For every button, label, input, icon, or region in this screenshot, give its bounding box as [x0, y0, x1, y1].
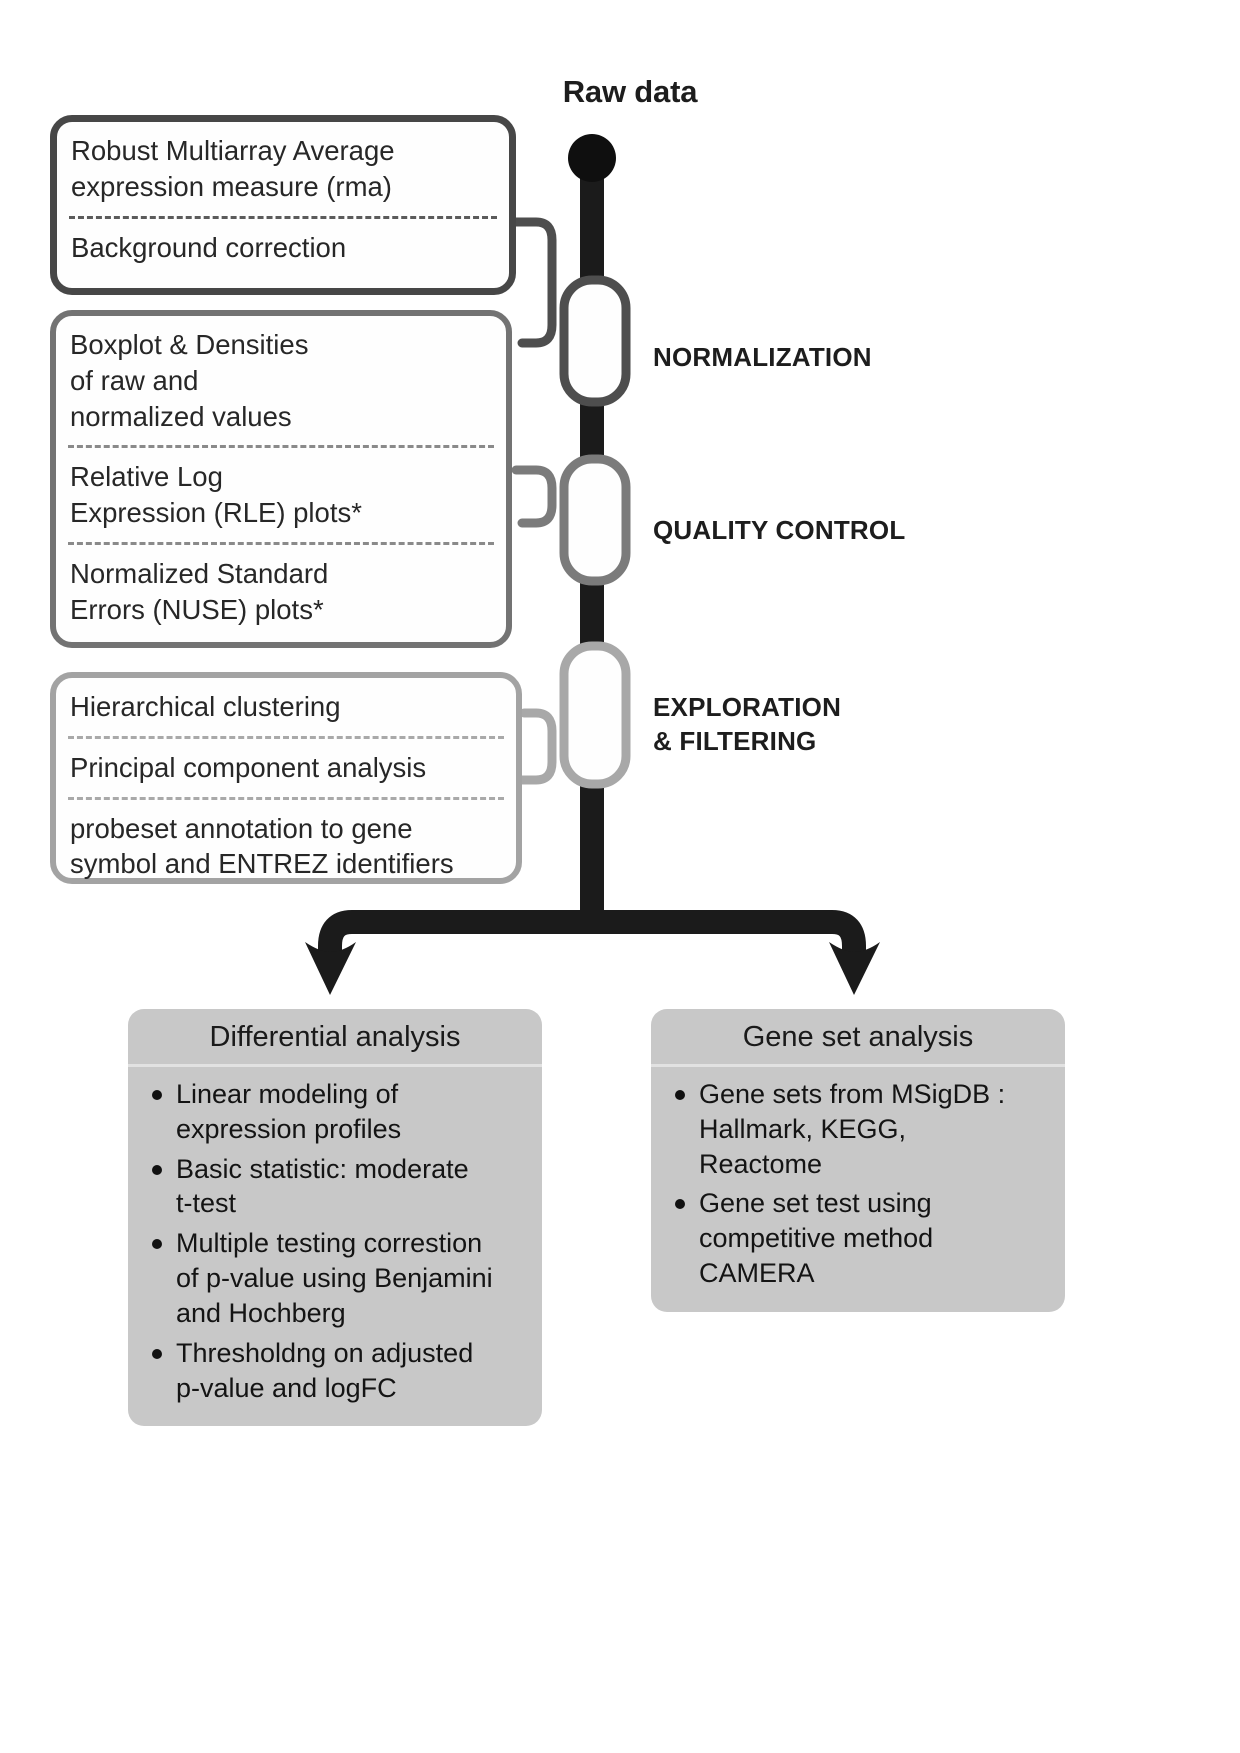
bullet-icon	[152, 1090, 162, 1100]
list-item-label: Basic statistic: moderatet-test	[176, 1154, 469, 1219]
panel-item: Principal component analysis	[56, 750, 516, 786]
bullet-icon	[152, 1165, 162, 1175]
page-title: Raw data	[500, 74, 760, 110]
branch-arrows	[305, 905, 880, 995]
bullet-icon	[675, 1199, 685, 1209]
list-item: Gene set test usingcompetitive methodCAM…	[669, 1186, 1051, 1290]
panel-item: Relative LogExpression (RLE) plots*	[56, 459, 506, 531]
bullet-list: Linear modeling ofexpression profiles Ba…	[128, 1067, 542, 1426]
bullet-icon	[675, 1090, 685, 1100]
stage-label-exploration-filtering: EXPLORATION& FILTERING	[653, 690, 841, 759]
card-title: Differential analysis	[128, 1009, 542, 1067]
stage-pill-normalization	[516, 222, 626, 402]
card-title: Gene set analysis	[651, 1009, 1065, 1067]
panel-item: Boxplot & Densitiesof raw andnormalized …	[56, 327, 506, 434]
stage-pill-quality-control	[516, 459, 626, 581]
list-item-label: Thresholdng on adjustedp-value and logFC	[176, 1338, 473, 1403]
list-item-label: Multiple testing correstionof p-value us…	[176, 1228, 493, 1328]
panel-exploration-filtering: Hierarchical clustering Principal compon…	[50, 672, 522, 884]
list-item: Gene sets from MSigDB :Hallmark, KEGG,Re…	[669, 1077, 1051, 1181]
list-item-label: Linear modeling ofexpression profiles	[176, 1079, 401, 1144]
list-item-label: Gene sets from MSigDB :Hallmark, KEGG,Re…	[699, 1079, 1005, 1179]
list-item: Basic statistic: moderatet-test	[146, 1152, 528, 1222]
raw-data-node	[568, 134, 616, 182]
list-item: Linear modeling ofexpression profiles	[146, 1077, 528, 1147]
stage-label-normalization: NORMALIZATION	[653, 340, 872, 374]
list-item-label: Gene set test usingcompetitive methodCAM…	[699, 1188, 933, 1288]
panel-item: Robust Multiarray Averageexpression meas…	[57, 133, 509, 205]
panel-item: Hierarchical clustering	[56, 689, 516, 725]
bullet-icon	[152, 1239, 162, 1249]
output-card-gene-set-analysis: Gene set analysis Gene sets from MSigDB …	[651, 1009, 1065, 1312]
bullet-icon	[152, 1349, 162, 1359]
panel-item: Normalized StandardErrors (NUSE) plots*	[56, 556, 506, 628]
panel-normalization: Robust Multiarray Averageexpression meas…	[50, 115, 516, 295]
panel-quality-control: Boxplot & Densitiesof raw andnormalized …	[50, 310, 512, 648]
panel-item: Background correction	[57, 230, 509, 266]
list-item: Multiple testing correstionof p-value us…	[146, 1226, 528, 1330]
list-item: Thresholdng on adjustedp-value and logFC	[146, 1336, 528, 1406]
bullet-list: Gene sets from MSigDB :Hallmark, KEGG,Re…	[651, 1067, 1065, 1312]
stage-pill-exploration-filtering	[520, 646, 626, 784]
output-card-differential-analysis: Differential analysis Linear modeling of…	[128, 1009, 542, 1426]
panel-item: probeset annotation to genesymbol and EN…	[56, 811, 516, 883]
stage-label-quality-control: QUALITY CONTROL	[653, 513, 905, 547]
